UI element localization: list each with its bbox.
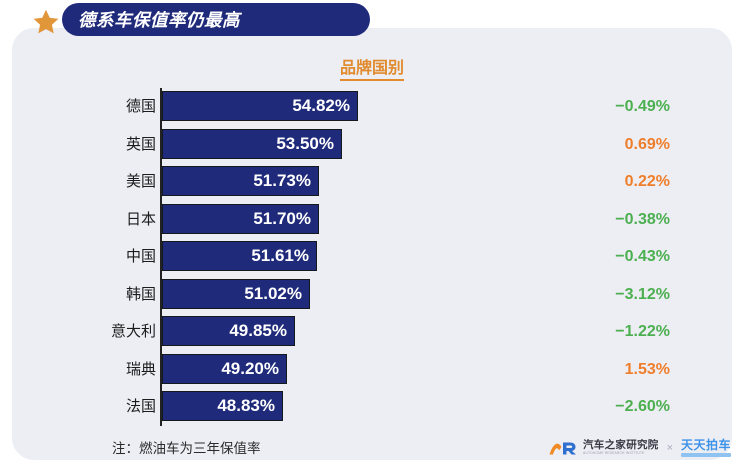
bar-value-label: 48.83% bbox=[217, 396, 282, 416]
bar: 51.61% bbox=[162, 241, 317, 271]
bar-wrapper: 49.85% bbox=[162, 316, 295, 346]
category-label: 韩国 bbox=[60, 276, 156, 314]
bar-wrapper: 48.83% bbox=[162, 391, 283, 421]
bar-value-label: 49.85% bbox=[229, 321, 294, 341]
autohome-logo-icon bbox=[548, 438, 578, 458]
chart-row: 瑞典49.20%1.53% bbox=[0, 351, 744, 389]
bar: 49.20% bbox=[162, 354, 287, 384]
logo-area: 汽车之家研究院 AUTOHOME RESEARCH INSTITUTE × 天天… bbox=[548, 433, 731, 463]
category-label: 美国 bbox=[60, 163, 156, 201]
category-label: 日本 bbox=[60, 201, 156, 239]
bar-wrapper: 53.50% bbox=[162, 129, 342, 159]
chart-row: 中国51.61%−0.43% bbox=[0, 238, 744, 276]
bar-value-label: 51.70% bbox=[253, 209, 318, 229]
bar-value-label: 51.73% bbox=[253, 171, 318, 191]
footnote: 注：燃油车为三年保值率 bbox=[112, 437, 261, 457]
delta-value: 0.22% bbox=[540, 163, 670, 201]
autohome-logo-text: 汽车之家研究院 AUTOHOME RESEARCH INSTITUTE bbox=[583, 440, 659, 456]
delta-value: −0.38% bbox=[540, 201, 670, 239]
delta-value: 1.53% bbox=[540, 351, 670, 389]
bar: 51.73% bbox=[162, 166, 319, 196]
category-label: 意大利 bbox=[60, 313, 156, 351]
ttpc-logo-underline bbox=[681, 453, 731, 457]
chart-row: 美国51.73%0.22% bbox=[0, 163, 744, 201]
ttpc-logo: 天天拍车 bbox=[681, 439, 731, 458]
bar: 51.02% bbox=[162, 279, 310, 309]
bar-wrapper: 49.20% bbox=[162, 354, 287, 384]
delta-value: −0.43% bbox=[540, 238, 670, 276]
chart-heading: 品牌国别 bbox=[0, 54, 744, 78]
bar-wrapper: 51.02% bbox=[162, 279, 310, 309]
chart-row: 韩国51.02%−3.12% bbox=[0, 276, 744, 314]
bar-value-label: 51.61% bbox=[251, 246, 316, 266]
chart-row: 意大利49.85%−1.22% bbox=[0, 313, 744, 351]
logo-separator: × bbox=[667, 442, 673, 454]
category-label: 英国 bbox=[60, 126, 156, 164]
delta-value: −2.60% bbox=[540, 388, 670, 426]
chart-page: 德系车保值率仍最高 品牌国别 德国54.82%−0.49%英国53.50%0.6… bbox=[0, 0, 744, 472]
category-label: 中国 bbox=[60, 238, 156, 276]
bar-chart: 德国54.82%−0.49%英国53.50%0.69%美国51.73%0.22%… bbox=[0, 88, 744, 426]
chart-row: 日本51.70%−0.38% bbox=[0, 201, 744, 239]
bar: 51.70% bbox=[162, 204, 319, 234]
bar: 53.50% bbox=[162, 129, 342, 159]
chart-row: 法国48.83%−2.60% bbox=[0, 388, 744, 426]
star-icon bbox=[32, 8, 60, 36]
bar-value-label: 54.82% bbox=[292, 96, 357, 116]
ttpc-logo-cn: 天天拍车 bbox=[681, 439, 731, 452]
title-banner: 德系车保值率仍最高 bbox=[62, 3, 370, 36]
delta-value: 0.69% bbox=[540, 126, 670, 164]
autohome-logo-cn: 汽车之家研究院 bbox=[583, 440, 659, 451]
chart-row: 英国53.50%0.69% bbox=[0, 126, 744, 164]
chart-heading-label: 品牌国别 bbox=[340, 60, 404, 81]
delta-value: −1.22% bbox=[540, 313, 670, 351]
category-label: 瑞典 bbox=[60, 351, 156, 389]
header: 德系车保值率仍最高 bbox=[0, 0, 744, 40]
category-label: 德国 bbox=[60, 88, 156, 126]
delta-value: −0.49% bbox=[540, 88, 670, 126]
delta-value: −3.12% bbox=[540, 276, 670, 314]
bar-wrapper: 51.61% bbox=[162, 241, 317, 271]
bar: 48.83% bbox=[162, 391, 283, 421]
bar-value-label: 51.02% bbox=[244, 284, 309, 304]
bar-value-label: 53.50% bbox=[276, 134, 341, 154]
bar-wrapper: 51.70% bbox=[162, 204, 319, 234]
page-title: 德系车保值率仍最高 bbox=[62, 7, 240, 32]
category-label: 法国 bbox=[60, 388, 156, 426]
bar: 54.82% bbox=[162, 91, 358, 121]
bar-value-label: 49.20% bbox=[221, 359, 286, 379]
chart-row: 德国54.82%−0.49% bbox=[0, 88, 744, 126]
bar: 49.85% bbox=[162, 316, 295, 346]
bar-wrapper: 54.82% bbox=[162, 91, 358, 121]
bar-wrapper: 51.73% bbox=[162, 166, 319, 196]
autohome-logo-en: AUTOHOME RESEARCH INSTITUTE bbox=[583, 451, 659, 456]
